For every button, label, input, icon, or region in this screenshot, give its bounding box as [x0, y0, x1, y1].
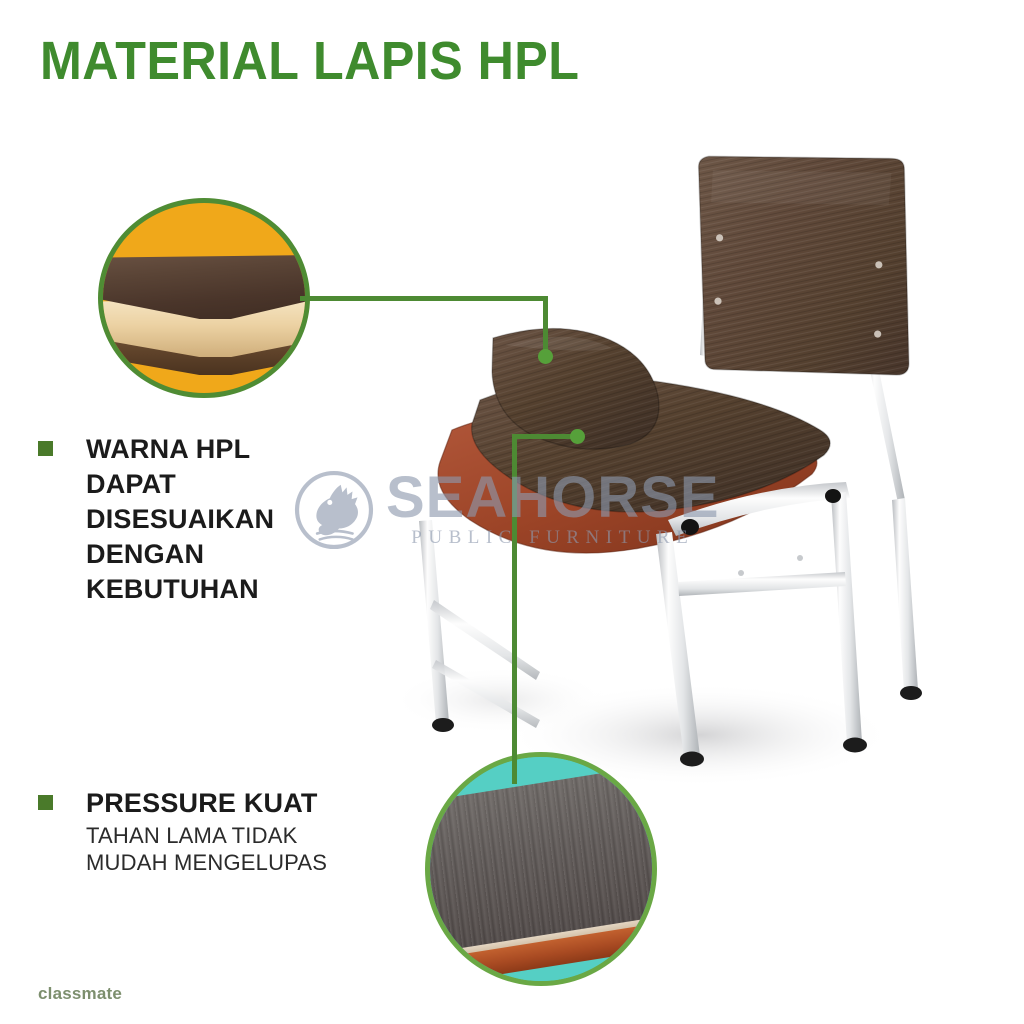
green-square-bullet-icon [38, 441, 53, 456]
connector-endpoint-dot [538, 349, 553, 364]
connector-segment-horizontal [300, 296, 548, 301]
feature-warna-hpl: WARNA HPL DAPAT DISESUAIKAN DENGAN KEBUT… [38, 432, 368, 607]
connector-segment-vertical [512, 434, 517, 784]
poster-canvas: MATERIAL LAPIS HPL WARNA HPL DAPAT DISES… [0, 0, 1024, 1024]
green-square-bullet-icon [38, 795, 53, 810]
feature-heading: WARNA HPL DAPAT DISESUAIKAN DENGAN KEBUT… [86, 432, 368, 607]
connector-endpoint-dot [570, 429, 585, 444]
feature-subtext: TAHAN LAMA TIDAK MUDAH MENGELUPAS [86, 823, 378, 877]
feature-heading: PRESSURE KUAT [86, 786, 378, 821]
callout-wood-closeup [425, 752, 657, 986]
callout-hpl-layers [98, 198, 310, 398]
connector-segment-horizontal [512, 434, 578, 439]
footer-brand-label: classmate [38, 984, 122, 1004]
feature-pressure-kuat: PRESSURE KUAT TAHAN LAMA TIDAK MUDAH MEN… [38, 786, 378, 877]
page-title: MATERIAL LAPIS HPL [40, 30, 579, 92]
